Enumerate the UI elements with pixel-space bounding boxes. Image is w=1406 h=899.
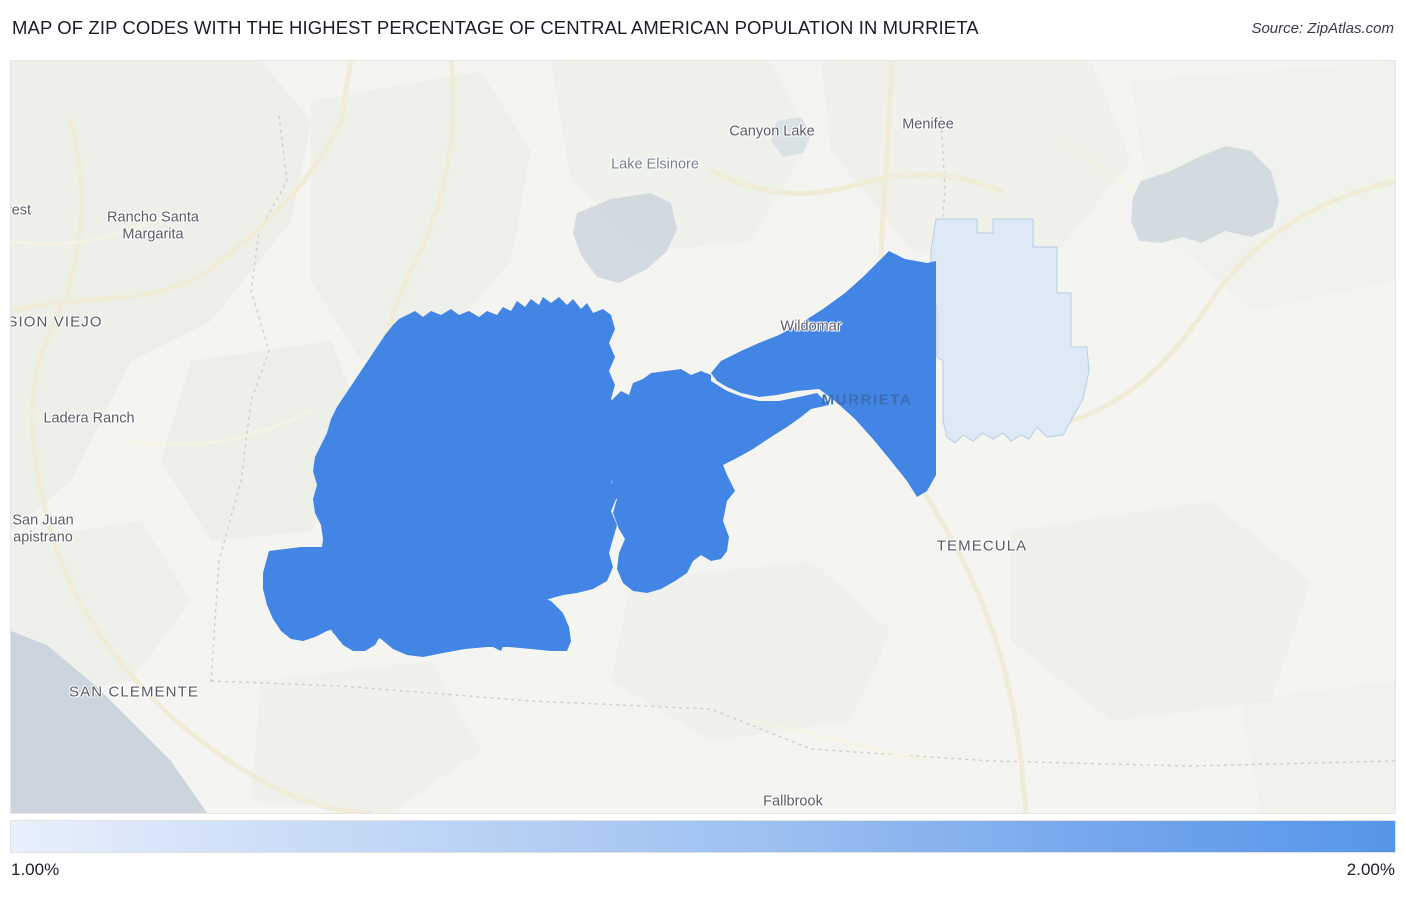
map-svg: [11, 61, 1395, 813]
source-attribution: Source: ZipAtlas.com: [1251, 20, 1394, 37]
legend: 1.00% 2.00%: [10, 820, 1396, 888]
map-canvas[interactable]: [11, 61, 1395, 813]
legend-max-label: 2.00%: [1347, 860, 1395, 880]
map-container[interactable]: Canyon LakeMenifeeLake ElsinorerestRanch…: [10, 60, 1396, 814]
page-header: MAP OF ZIP CODES WITH THE HIGHEST PERCEN…: [0, 0, 1406, 58]
legend-gradient-bar[interactable]: [10, 820, 1396, 853]
page-title: MAP OF ZIP CODES WITH THE HIGHEST PERCEN…: [12, 17, 979, 39]
map-page: MAP OF ZIP CODES WITH THE HIGHEST PERCEN…: [0, 0, 1406, 899]
legend-min-label: 1.00%: [11, 860, 59, 880]
